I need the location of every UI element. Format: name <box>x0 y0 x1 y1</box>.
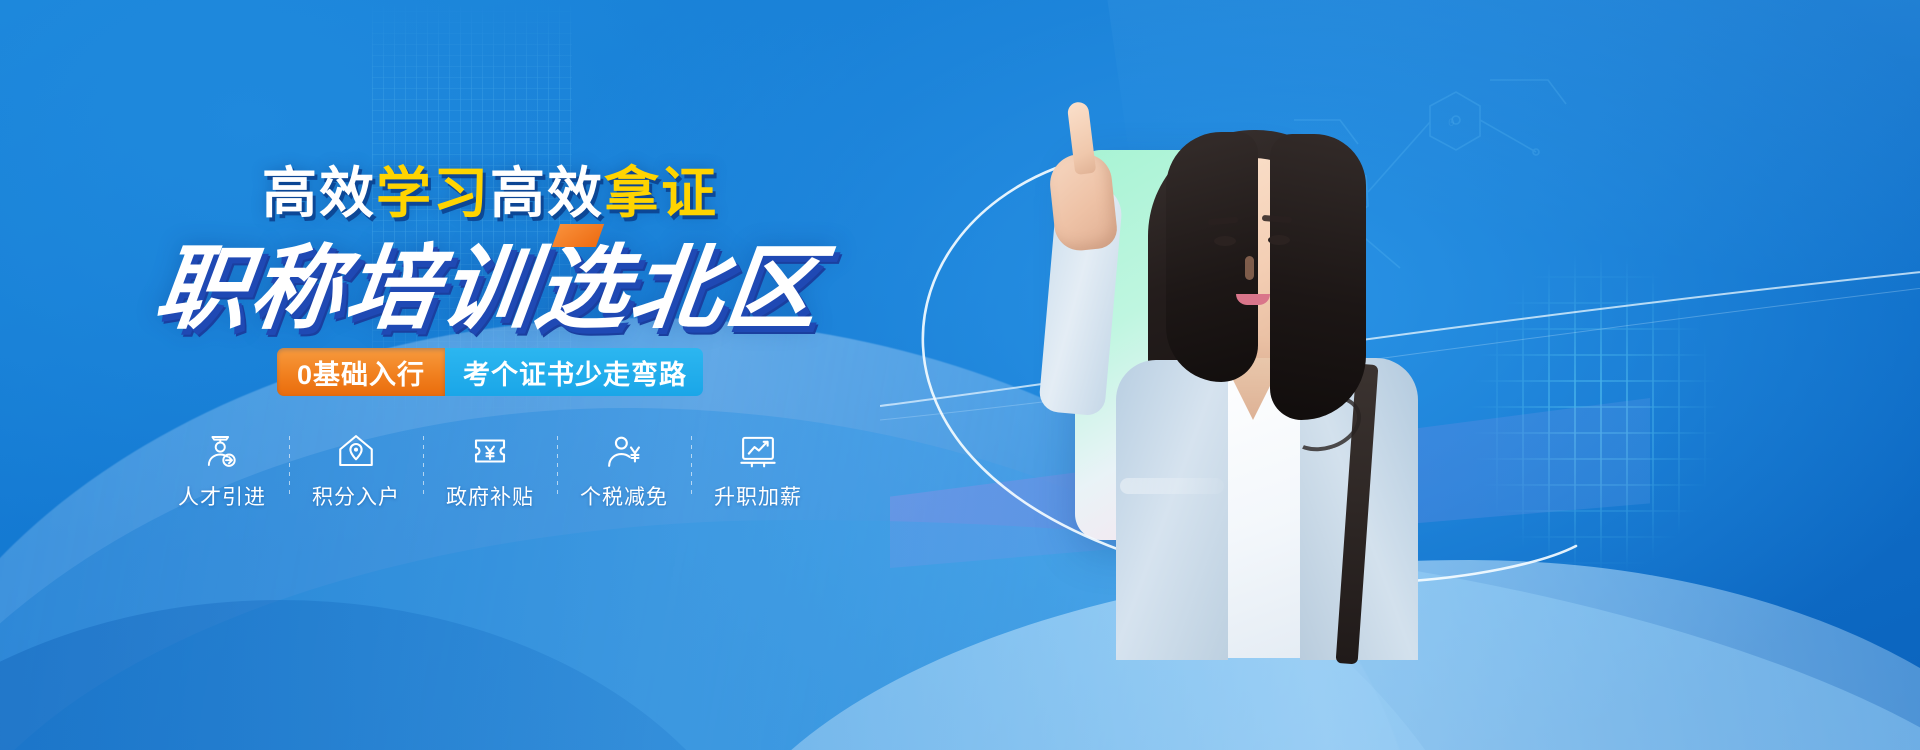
feature-label: 人才引进 <box>178 481 266 511</box>
feature-label: 升职加薪 <box>714 481 802 511</box>
banner-text-block: 高效学习高效拿证 职称培训选北区 0基础入行 考个证书少走弯路 <box>0 0 1100 750</box>
person-yuan-icon <box>603 430 645 472</box>
home-location-pin-icon <box>335 430 377 472</box>
figure-cardigan-left <box>1116 360 1228 660</box>
figure-eye-left <box>1214 236 1236 246</box>
growth-chart-board-icon <box>737 430 779 472</box>
yuan-coupon-ticket-icon <box>469 430 511 472</box>
banner-main-title: 职称培训选北区 <box>149 214 830 347</box>
figure-nose <box>1245 256 1254 280</box>
feature-label: 积分入户 <box>312 481 400 511</box>
feature-label: 政府补贴 <box>446 481 534 511</box>
badge-zero-basis[interactable]: 0基础入行 <box>277 348 445 396</box>
graduate-person-icon <box>201 430 243 472</box>
feature-item-tax-reduction[interactable]: 个税减免 <box>557 430 691 511</box>
feature-item-promotion-raise[interactable]: 升职加薪 <box>691 430 825 511</box>
figure-hair-left <box>1166 132 1258 382</box>
feature-item-points-residency[interactable]: 积分入户 <box>289 430 423 511</box>
figure-hair-right <box>1270 134 1366 420</box>
page-title: 职称培训选北区 <box>0 214 980 347</box>
figure-eye-right <box>1268 235 1290 245</box>
feature-item-talent-introduction[interactable]: 人才引进 <box>155 430 289 511</box>
feature-item-government-subsidy[interactable]: 政府补贴 <box>423 430 557 511</box>
feature-icon-row: 人才引进 积分入户 <box>0 430 980 511</box>
promo-banner: 0 <box>0 0 1920 750</box>
badge-certificate-shortcut[interactable]: 考个证书少走弯路 <box>445 348 703 396</box>
banner-badge-row: 0基础入行 考个证书少走弯路 <box>0 348 980 396</box>
figure-sleeve-fold <box>1120 478 1224 494</box>
feature-label: 个税减免 <box>580 481 668 511</box>
